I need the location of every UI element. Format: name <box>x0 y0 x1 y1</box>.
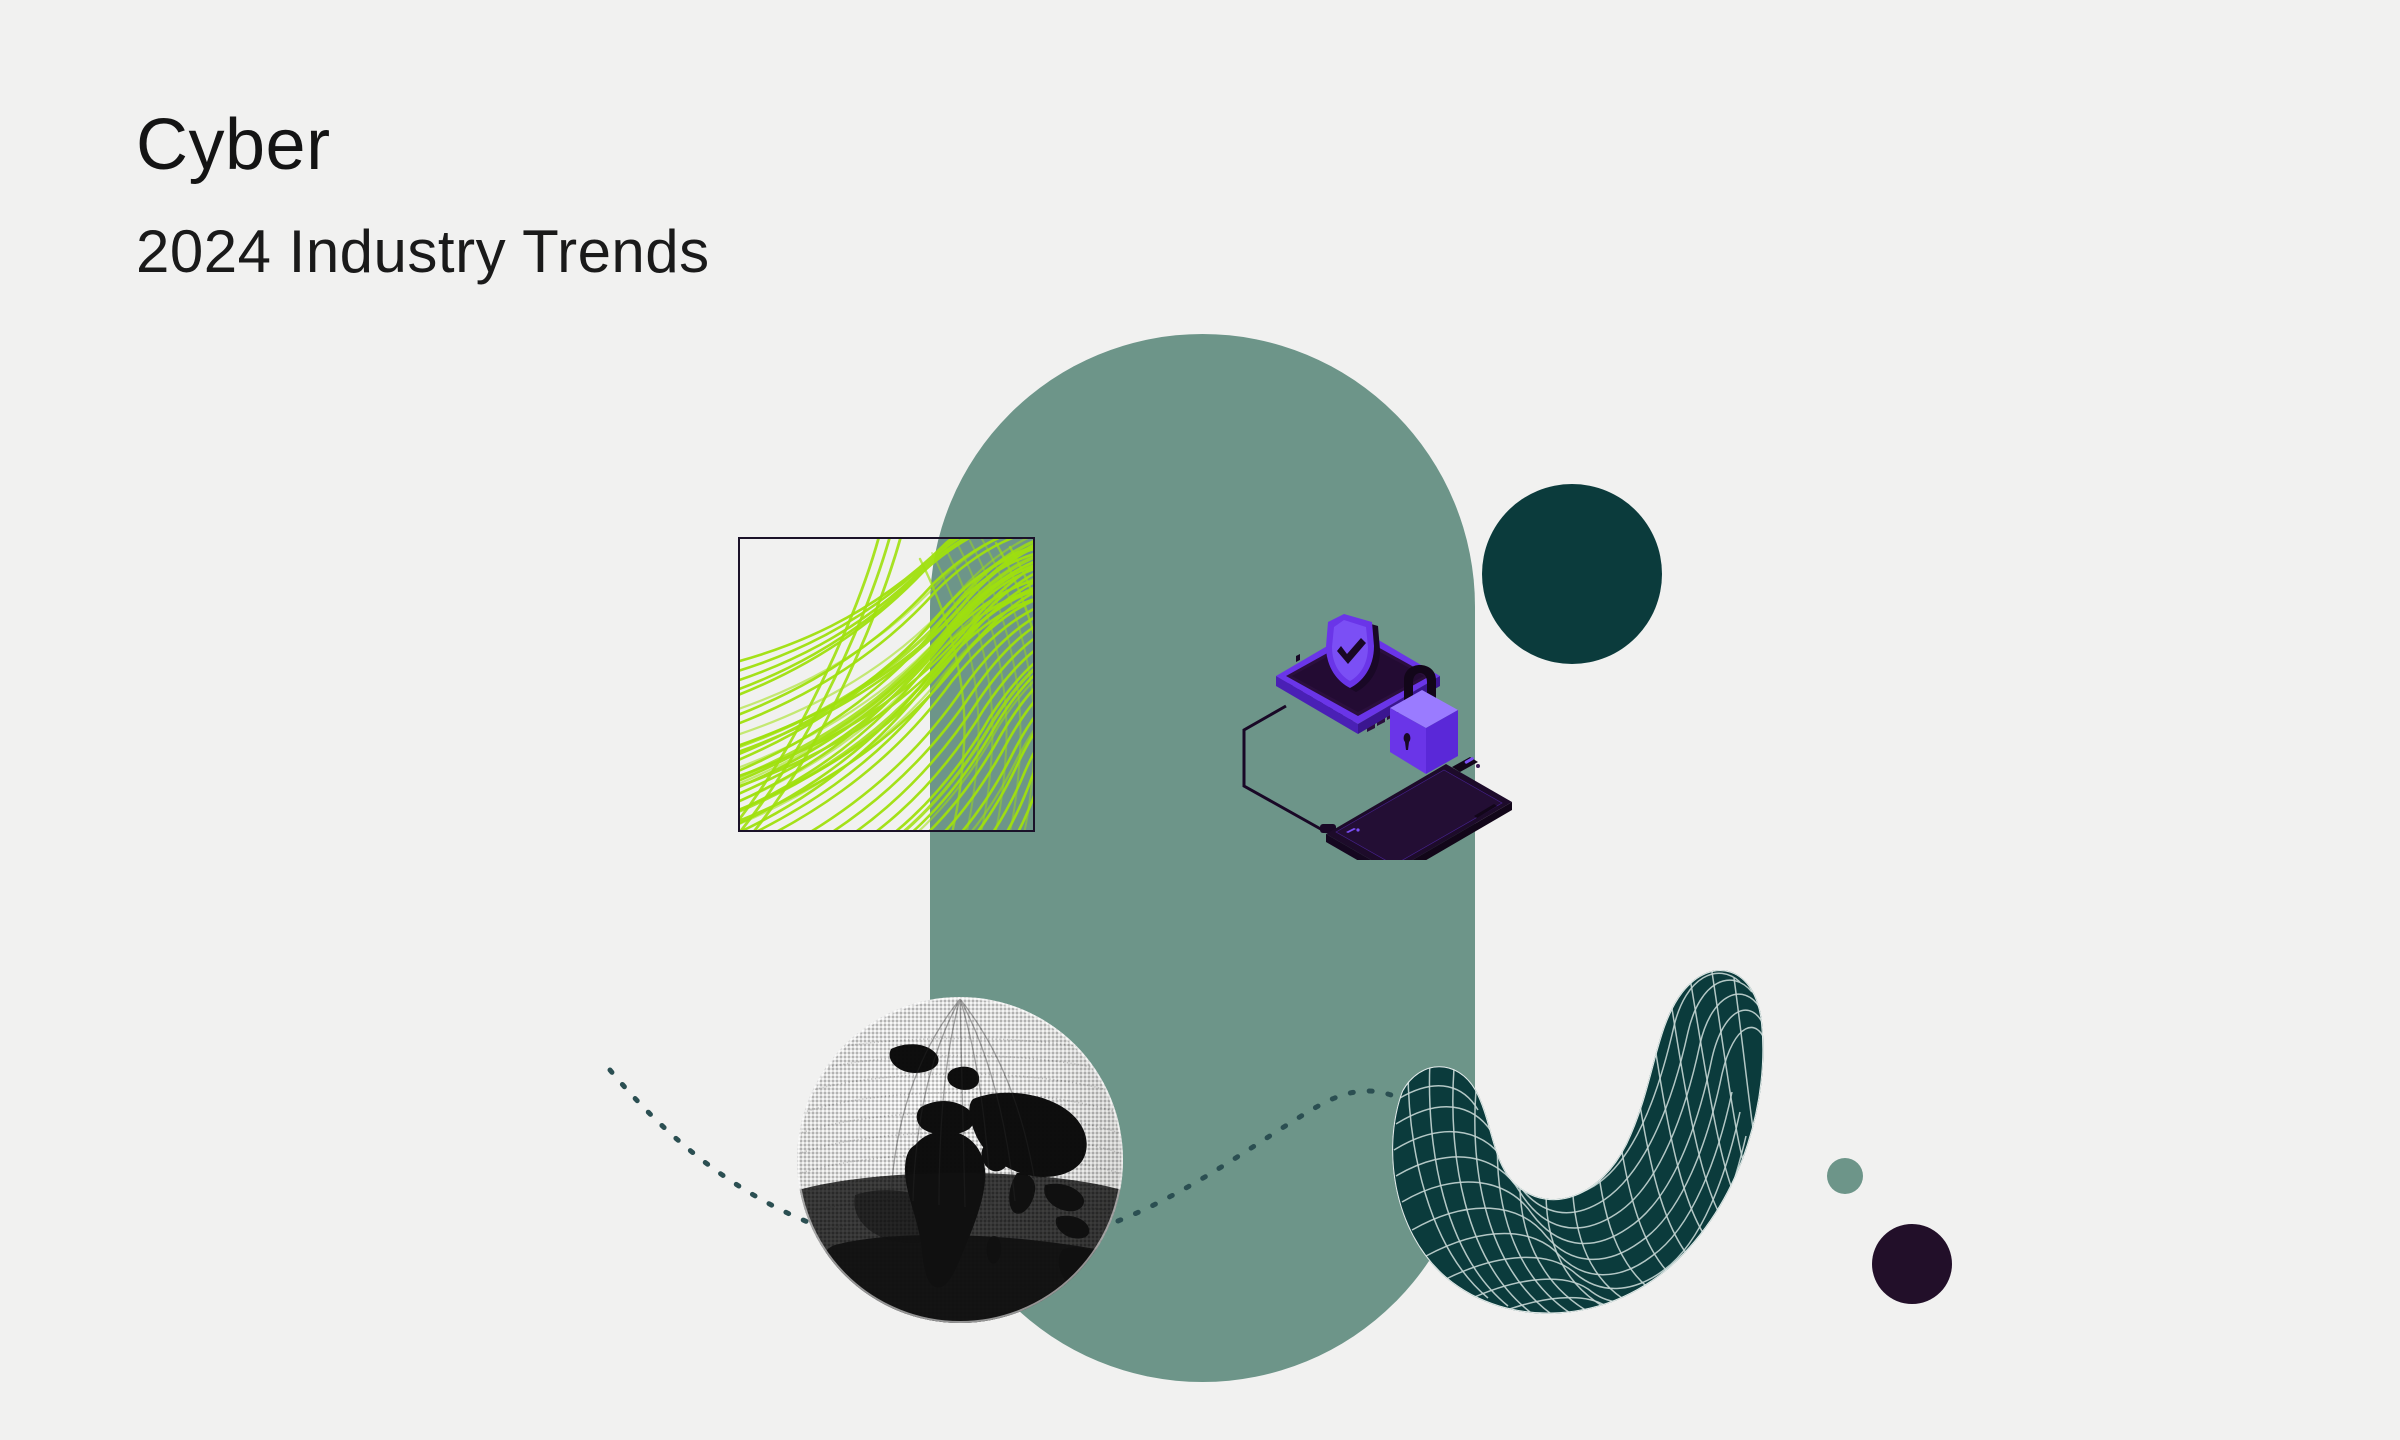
connector-cable <box>1244 706 1336 833</box>
page-subtitle: 2024 Industry Trends <box>136 220 710 283</box>
isometric-security-scene <box>1240 610 1590 860</box>
poster-canvas: Cyber 2024 Industry Trends <box>0 0 2400 1440</box>
title-block: Cyber 2024 Industry Trends <box>136 108 710 283</box>
small-dark-dot <box>1872 1224 1952 1304</box>
page-title: Cyber <box>136 108 710 184</box>
wireframe-crescent-blob <box>1368 948 1766 1320</box>
smartphone <box>1326 757 1512 860</box>
scribble-lines <box>696 519 1086 859</box>
green-scribble-box <box>738 537 1035 832</box>
small-sage-dot <box>1827 1158 1863 1194</box>
halftone-globe <box>795 995 1125 1325</box>
